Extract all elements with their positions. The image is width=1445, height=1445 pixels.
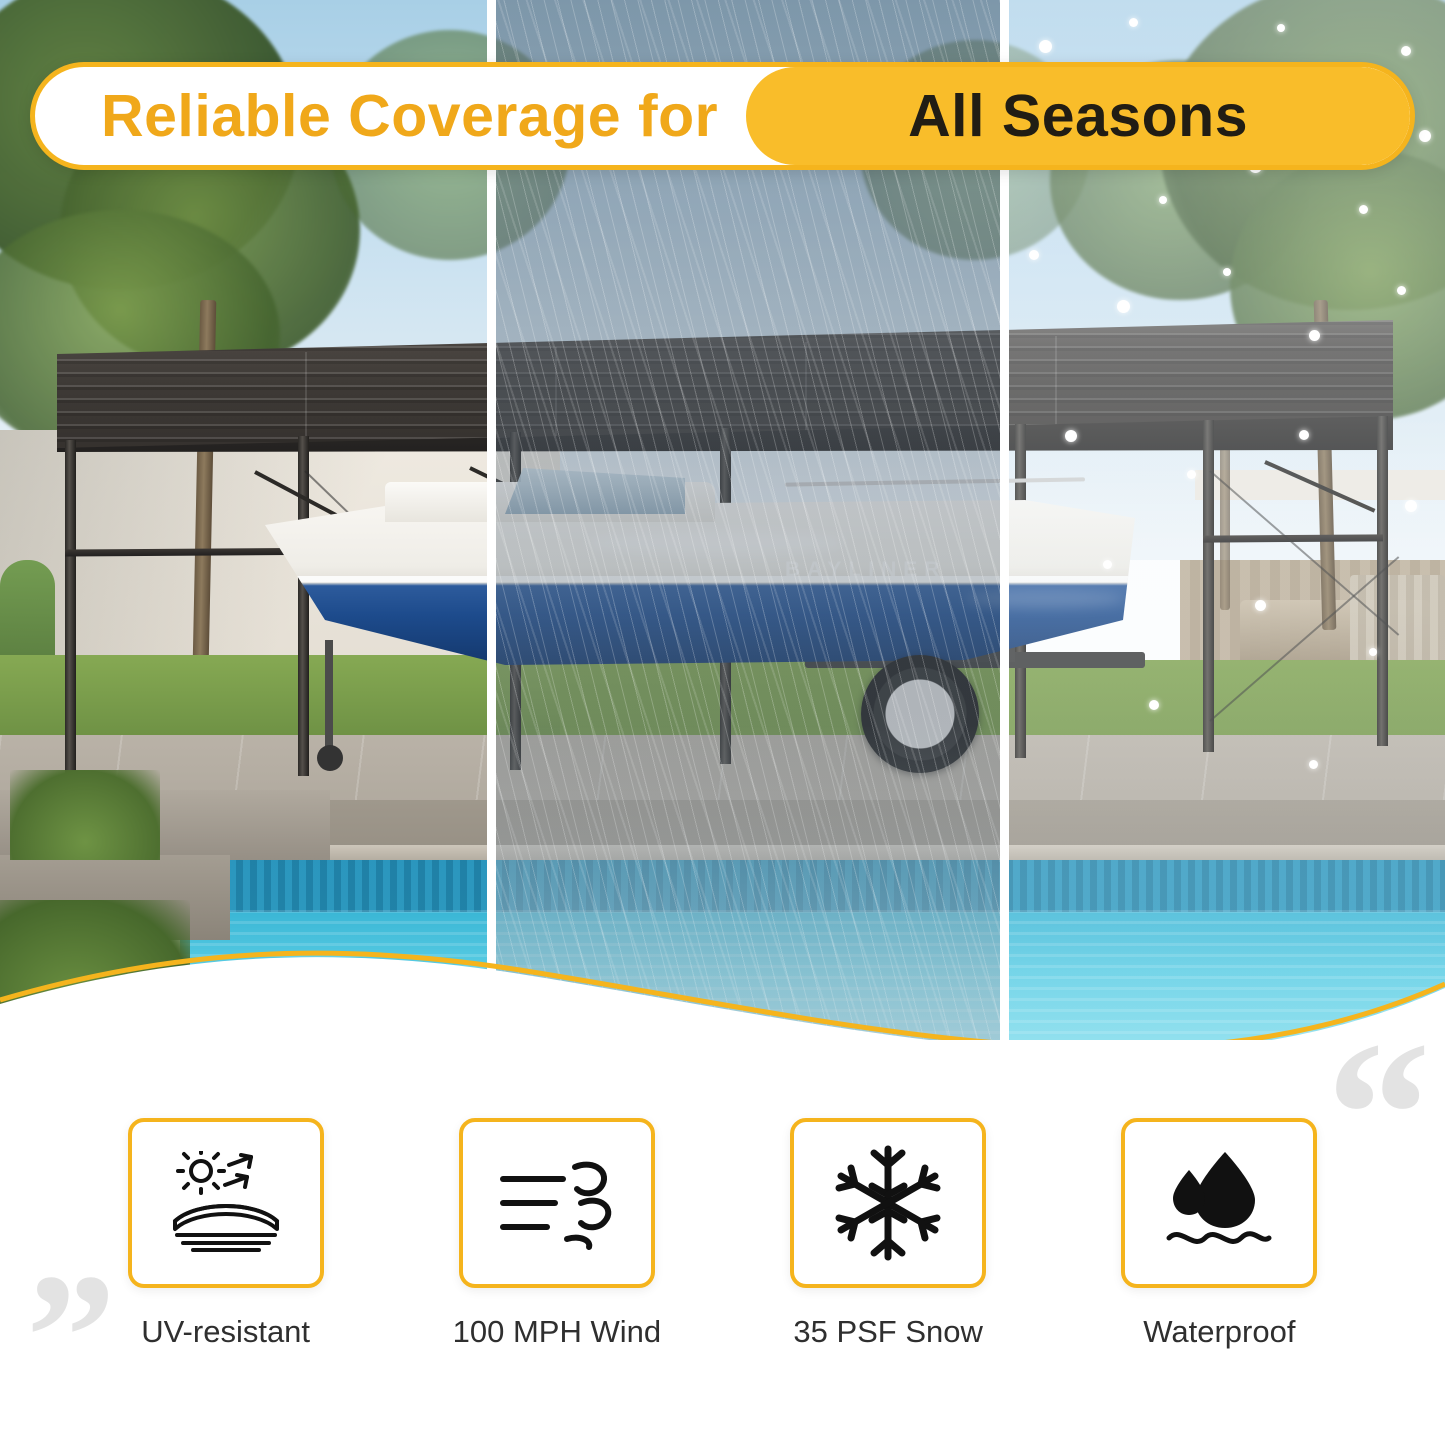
snowflake-particle: [1129, 18, 1138, 27]
snowflake-particle: [1277, 24, 1285, 32]
snowflake-particle: [1309, 760, 1318, 769]
snowflake-particle: [1159, 196, 1167, 204]
snowflake-particle: [1401, 46, 1411, 56]
feature-snow-load: 35 PSF Snow: [763, 1118, 1013, 1350]
snowflake-particle: [1299, 430, 1309, 440]
snowflake-particle: [1255, 600, 1266, 611]
feature-icon-card: [459, 1118, 655, 1288]
feature-icon-card: [790, 1118, 986, 1288]
snowflake-particle: [1103, 560, 1112, 569]
headline-banner: Reliable Coverage for All Seasons: [30, 62, 1415, 170]
snowflake-particle: [1029, 250, 1039, 260]
uv-sun-shield-icon: [167, 1151, 285, 1255]
snowflake-particle: [1309, 330, 1320, 341]
feature-waterproof: Waterproof: [1094, 1118, 1344, 1350]
feature-icon-card: [1121, 1118, 1317, 1288]
feature-label: 100 MPH Wind: [453, 1314, 661, 1350]
headline-secondary: All Seasons: [908, 82, 1248, 150]
snowflake-particle: [1117, 300, 1130, 313]
wind-gust-icon: [497, 1155, 617, 1251]
feature-label: 35 PSF Snow: [793, 1314, 983, 1350]
feature-card-row: UV-resistant 100 MPH Wind: [0, 1118, 1445, 1418]
feature-uv-resistant: UV-resistant: [101, 1118, 351, 1350]
bottom-wave-divider: [0, 930, 1445, 1045]
feature-label: UV-resistant: [141, 1314, 310, 1350]
product-feature-graphic: BAYLINER: [0, 0, 1445, 1445]
snowflake-particle: [1397, 286, 1406, 295]
feature-icon-card: [128, 1118, 324, 1288]
snowflake-particle: [1039, 40, 1052, 53]
snowflake-particle: [1419, 130, 1431, 142]
snowflake-particle: [1149, 700, 1159, 710]
headline-primary: Reliable Coverage for: [35, 82, 742, 150]
feature-wind-rating: 100 MPH Wind: [432, 1118, 682, 1350]
feature-label: Waterproof: [1143, 1314, 1295, 1350]
snowflake-particle: [1369, 648, 1377, 656]
snowflake-particle: [1223, 268, 1231, 276]
snowflake-particle: [1359, 205, 1368, 214]
headline-highlight-pill: All Seasons: [746, 67, 1410, 165]
snowflake-icon: [828, 1143, 948, 1263]
snowflake-particle: [1405, 500, 1417, 512]
water-droplet-waves-icon: [1163, 1148, 1275, 1258]
snowflake-particle: [1065, 430, 1077, 442]
snowflake-particle: [1187, 470, 1196, 479]
